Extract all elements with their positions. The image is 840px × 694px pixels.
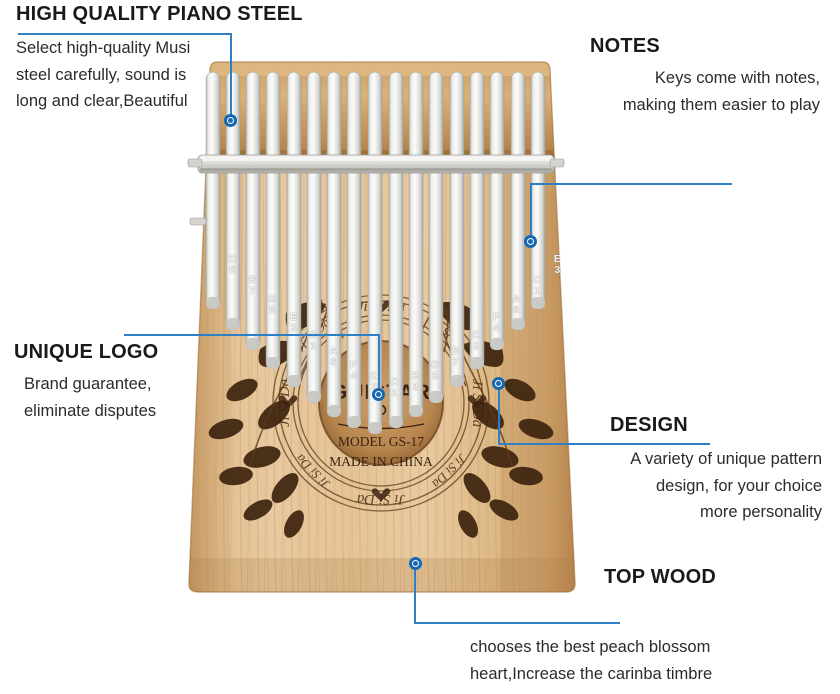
connector-line-design-h [498,443,710,445]
tine-label-13: D2 [472,330,481,351]
callout-title-design: DESIGN [610,415,822,436]
callout-top-wood-body: chooses the best peach blossom heart,Inc… [470,634,840,687]
connector-dot-design [492,377,505,390]
tine-label-15: A6 [512,294,521,315]
connector-line-notes-h [530,183,732,185]
connector-line-unique-logo-h [124,334,380,336]
callout-body-piano-steel: Select high-quality Musi steel carefully… [16,35,346,115]
connector-dot-notes [524,235,537,248]
kalimba-product-image: Ji Si Da Ji Si Da Ji Si Da Ji Si Da Ji S… [170,58,590,603]
callout-title-notes: NOTES [590,36,820,57]
tine-label-9: C1 [390,377,399,398]
callout-title-top-wood: TOP WOOD [604,567,834,588]
connector-line-design-v [498,383,500,444]
tine-label-17: E3 [553,254,562,275]
callout-design: DESIGN A variety of unique pattern desig… [560,415,822,526]
origin-text: MADE IN CHINA [329,454,433,469]
kalimba-illustration: Ji Si Da Ji Si Da Ji Si Da Ji Si Da Ji S… [170,58,590,603]
callout-title-piano-steel: HIGH QUALITY PIANO STEEL [16,4,346,25]
connector-dot-top-wood [409,557,422,570]
tine-label-1: D6 [228,254,237,275]
tine-label-3: G5 [268,294,277,315]
tine-label-12: B7 [451,346,460,367]
callout-body-top-wood: chooses the best peach blossom heart,Inc… [470,634,840,687]
callout-high-quality-piano-steel: HIGH QUALITY PIANO STEEL Select high-qua… [16,4,346,115]
connector-line-unique-logo-v [378,334,380,392]
tine-label-11: G5 [431,360,440,381]
model-text: MODEL GS-17 [338,434,424,449]
tine-label-10: E3 [411,371,420,392]
connector-line-notes-v [530,183,532,238]
tine-label-6: A6 [329,346,338,367]
callout-body-unique-logo: Brand guarantee, eliminate disputes [24,371,244,424]
callout-top-wood: TOP WOOD [604,567,834,588]
connector-dot-unique-logo [372,388,385,401]
infographic-page: Ji Si Da Ji Si Da Ji Si Da Ji Si Da Ji S… [0,0,840,694]
connector-line-top-wood-h [414,622,620,624]
tine-label-7: F4 [349,360,358,381]
connector-line-top-wood-v [414,569,416,624]
tine-label-14: F4 [492,312,501,333]
bridge-bar [198,155,554,173]
tine-label-2: B7 [248,275,257,296]
callout-unique-logo: UNIQUE LOGO Brand guarantee, eliminate d… [14,342,244,424]
callout-title-unique-logo: UNIQUE LOGO [14,342,244,363]
callout-body-notes: Keys come with notes, making them easier… [520,65,820,118]
callout-notes: NOTES Keys come with notes, making them … [520,36,820,118]
tine-label-4: E3 [289,312,298,333]
connector-line-piano-steel-h [18,33,232,35]
tine-label-16: C1 [533,275,542,296]
connector-line-piano-steel-v [230,33,232,122]
connector-dot-piano-steel [224,114,237,127]
callout-body-design: A variety of unique pattern design, for … [560,446,822,526]
